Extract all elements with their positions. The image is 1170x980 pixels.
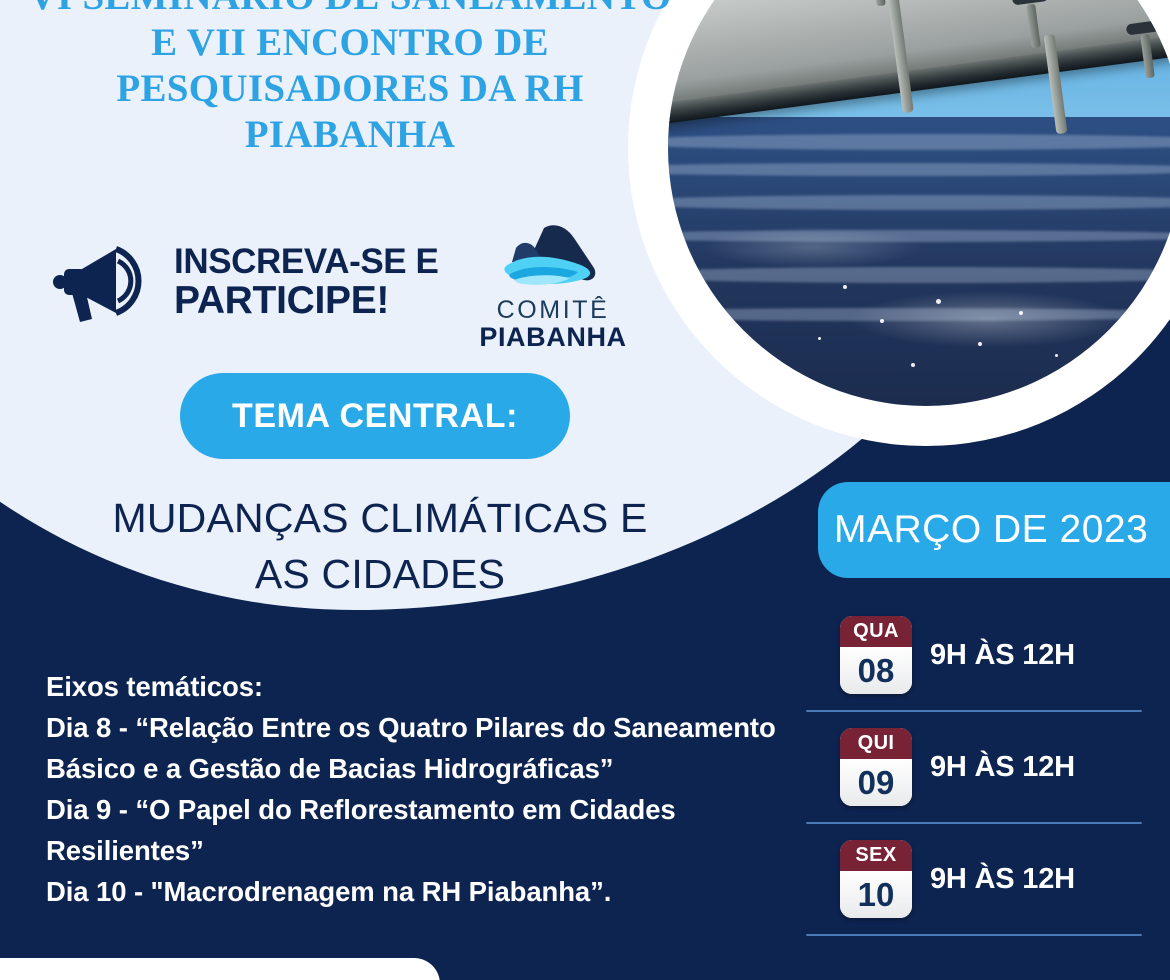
schedule-time: 9H ÀS 12H bbox=[930, 751, 1075, 784]
calendar-icon: QUI 09 bbox=[840, 728, 912, 806]
title-line-3: PESQUISADORES DA RH bbox=[0, 66, 700, 112]
calendar-icon: QUA 08 bbox=[840, 616, 912, 694]
bottom-white-card bbox=[0, 958, 440, 980]
eixos-line-3: Dia 9 - “O Papel do Reflorestamento em C… bbox=[46, 789, 836, 830]
calendar-icon: SEX 10 bbox=[840, 840, 912, 918]
schedule-time: 9H ÀS 12H bbox=[930, 863, 1075, 896]
month-banner: MARÇO DE 2023 bbox=[818, 482, 1170, 578]
eixos-line-1: Dia 8 - “Relação Entre os Quatro Pilares… bbox=[46, 707, 836, 748]
megaphone-icon bbox=[52, 239, 156, 325]
cta-line-2: PARTICIPE! bbox=[174, 280, 438, 321]
tema-body-line-2: AS CIDADES bbox=[30, 546, 730, 602]
tema-central-label: TEMA CENTRAL: bbox=[232, 397, 518, 436]
water-treatment-plant-photo bbox=[668, 0, 1170, 406]
calendar-weekday: SEX bbox=[840, 840, 912, 871]
title-line-4: PIABANHA bbox=[0, 112, 700, 158]
eixos-line-2: Básico e a Gestão de Bacias Hidrográfica… bbox=[46, 748, 836, 789]
calendar-weekday: QUI bbox=[840, 728, 912, 759]
schedule-item: QUA 08 9H ÀS 12H bbox=[806, 600, 1146, 710]
tema-central-pill: TEMA CENTRAL: bbox=[180, 373, 570, 459]
mountain-wave-logo-icon bbox=[470, 222, 636, 296]
calendar-day: 08 bbox=[840, 647, 912, 694]
logo-text-comite: COMITÊ bbox=[470, 298, 636, 323]
calendar-day: 09 bbox=[840, 759, 912, 806]
eixos-line-4: Resilientes” bbox=[46, 830, 836, 871]
schedule-list: QUA 08 9H ÀS 12H QUI 09 9H ÀS 12H SEX 10… bbox=[806, 600, 1146, 936]
calendar-weekday: QUA bbox=[840, 616, 912, 647]
tema-central-body: MUDANÇAS CLIMÁTICAS E AS CIDADES bbox=[30, 490, 730, 602]
cta-line-1: INSCREVA-SE E bbox=[174, 243, 438, 280]
month-label: MARÇO DE 2023 bbox=[834, 508, 1148, 552]
comite-piabanha-logo: COMITÊ PIABANHA bbox=[470, 222, 636, 346]
schedule-item: QUI 09 9H ÀS 12H bbox=[806, 712, 1146, 822]
event-poster: MARÇO DE 2023 VI SEMINÁRIO DE SANEAMENTO… bbox=[0, 0, 1170, 980]
page-title: VI SEMINÁRIO DE SANEAMENTO E VII ENCONTR… bbox=[0, 0, 700, 158]
schedule-item: SEX 10 9H ÀS 12H bbox=[806, 824, 1146, 934]
logo-text-piabanha: PIABANHA bbox=[470, 323, 636, 352]
tema-body-line-1: MUDANÇAS CLIMÁTICAS E bbox=[30, 490, 730, 546]
calendar-day: 10 bbox=[840, 871, 912, 918]
photo-water bbox=[668, 117, 1170, 406]
schedule-time: 9H ÀS 12H bbox=[930, 639, 1075, 672]
schedule-separator bbox=[806, 934, 1142, 936]
title-line-2: E VII ENCONTRO DE bbox=[0, 20, 700, 66]
title-line-1: VI SEMINÁRIO DE SANEAMENTO bbox=[0, 0, 700, 20]
eixos-tematicos-block: Eixos temáticos: Dia 8 - “Relação Entre … bbox=[46, 666, 836, 912]
eixos-heading: Eixos temáticos: bbox=[46, 666, 836, 707]
cta-text-group: INSCREVA-SE E PARTICIPE! bbox=[174, 243, 438, 321]
eixos-line-5: Dia 10 - "Macrodrenagem na RH Piabanha”. bbox=[46, 871, 836, 912]
